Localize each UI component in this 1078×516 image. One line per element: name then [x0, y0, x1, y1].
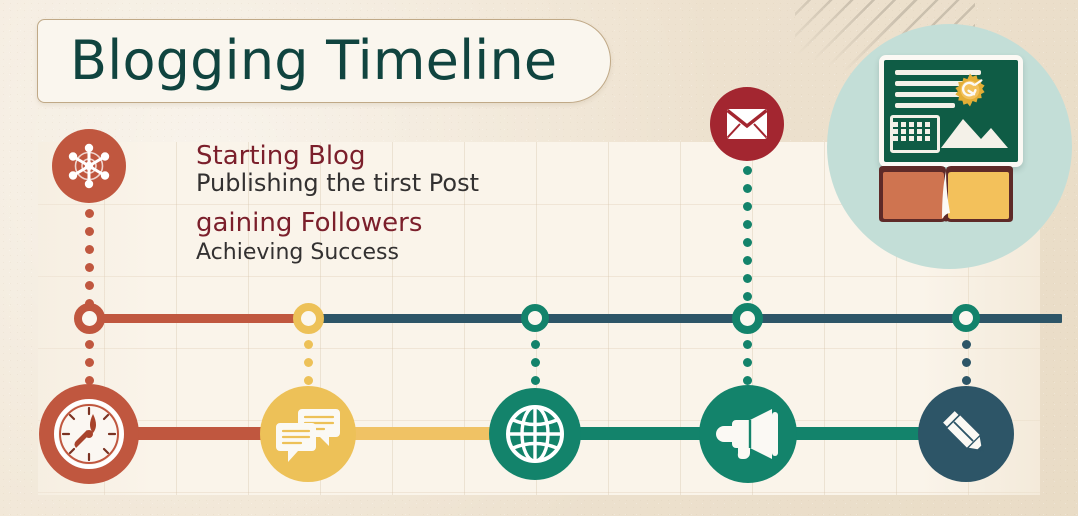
globe-icon[interactable]	[489, 388, 581, 480]
label-starting-blog: Starting Blog	[196, 142, 626, 171]
clock-glyph	[51, 396, 127, 472]
globe-glyph	[504, 403, 566, 465]
timeline-node-2[interactable]	[293, 303, 324, 334]
dots-connector-1-up	[85, 209, 94, 317]
gear-badge-icon	[953, 73, 987, 107]
timeline-node-3[interactable]	[521, 304, 549, 332]
timeline-rail-rust	[80, 314, 312, 323]
page-title-pill: Blogging Timeline	[37, 19, 611, 103]
megaphone-glyph	[716, 406, 780, 462]
label-achieving-success: Achieving Success	[196, 240, 626, 266]
icon-connector-3	[574, 427, 702, 440]
image-placeholder-icon	[941, 113, 1008, 148]
dots-connector-3-down	[531, 340, 540, 394]
label-publishing-post: Publishing the tirst Post	[196, 169, 626, 197]
timeline-node-5[interactable]	[952, 304, 980, 332]
icon-connector-4	[790, 427, 922, 440]
network-icon[interactable]	[52, 129, 126, 203]
infographic-canvas: Blogging Timeline	[0, 0, 1078, 516]
network-glyph	[66, 143, 112, 189]
open-book-icon	[876, 164, 1016, 226]
icon-connector-2	[345, 427, 493, 440]
chat-glyph	[276, 405, 340, 463]
pencil-icon[interactable]	[918, 386, 1014, 482]
icon-connector-1	[128, 427, 273, 440]
pencil-glyph	[937, 405, 995, 463]
timeline-rail-slate	[300, 314, 1062, 323]
chat-icon[interactable]	[260, 386, 356, 482]
clock-icon[interactable]	[39, 384, 139, 484]
board-text-line	[895, 103, 955, 108]
timeline-labels: Starting Blog Publishing the tirst Post …	[196, 142, 626, 265]
envelope-glyph	[726, 108, 768, 140]
megaphone-icon[interactable]	[699, 385, 797, 483]
page-title: Blogging Timeline	[70, 34, 557, 88]
calendar-dots	[893, 122, 931, 141]
dots-connector-4-up	[743, 166, 752, 310]
label-gaining-followers: gaining Followers	[196, 209, 626, 238]
envelope-icon[interactable]	[710, 87, 784, 161]
